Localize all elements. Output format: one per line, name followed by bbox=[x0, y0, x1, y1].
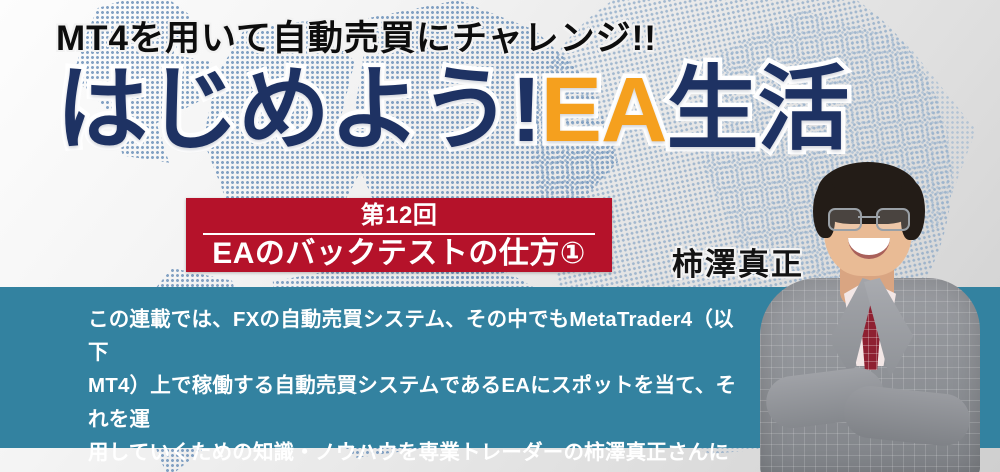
episode-number: 第12回 bbox=[361, 204, 438, 228]
page-title: はじめよう!EA生活 bbox=[56, 62, 848, 159]
author-photo bbox=[732, 150, 1000, 472]
episode-banner: 第12回 EAのバックテストの仕方① bbox=[186, 198, 612, 272]
episode-title: EAのバックテストの仕方① bbox=[212, 238, 586, 270]
glasses-icon bbox=[828, 208, 910, 228]
tagline: MT4を用いて自動売買にチャレンジ!! bbox=[56, 10, 657, 61]
article-header-banner: MT4を用いて自動売買にチャレンジ!! はじめよう!EA生活 第12回 EAのバ… bbox=[0, 0, 1000, 472]
description-line: 用していくための知識・ノウハウを専業トレーダーの柿澤真正さんにナビゲー bbox=[88, 436, 748, 472]
description-line: MT4）上で稼働する自動売買システムであるEAにスポットを当て、それを運 bbox=[88, 369, 748, 435]
title-part-ea: EA bbox=[541, 59, 667, 161]
title-part-seikatsu: 生活 bbox=[666, 59, 848, 161]
description-line: この連載では、FXの自動売買システム、その中でもMetaTrader4（以下 bbox=[88, 303, 748, 369]
episode-divider bbox=[203, 233, 595, 235]
description-text: この連載では、FXの自動売買システム、その中でもMetaTrader4（以下 M… bbox=[88, 303, 748, 472]
title-part-hajimeyou: はじめよう! bbox=[56, 59, 541, 161]
